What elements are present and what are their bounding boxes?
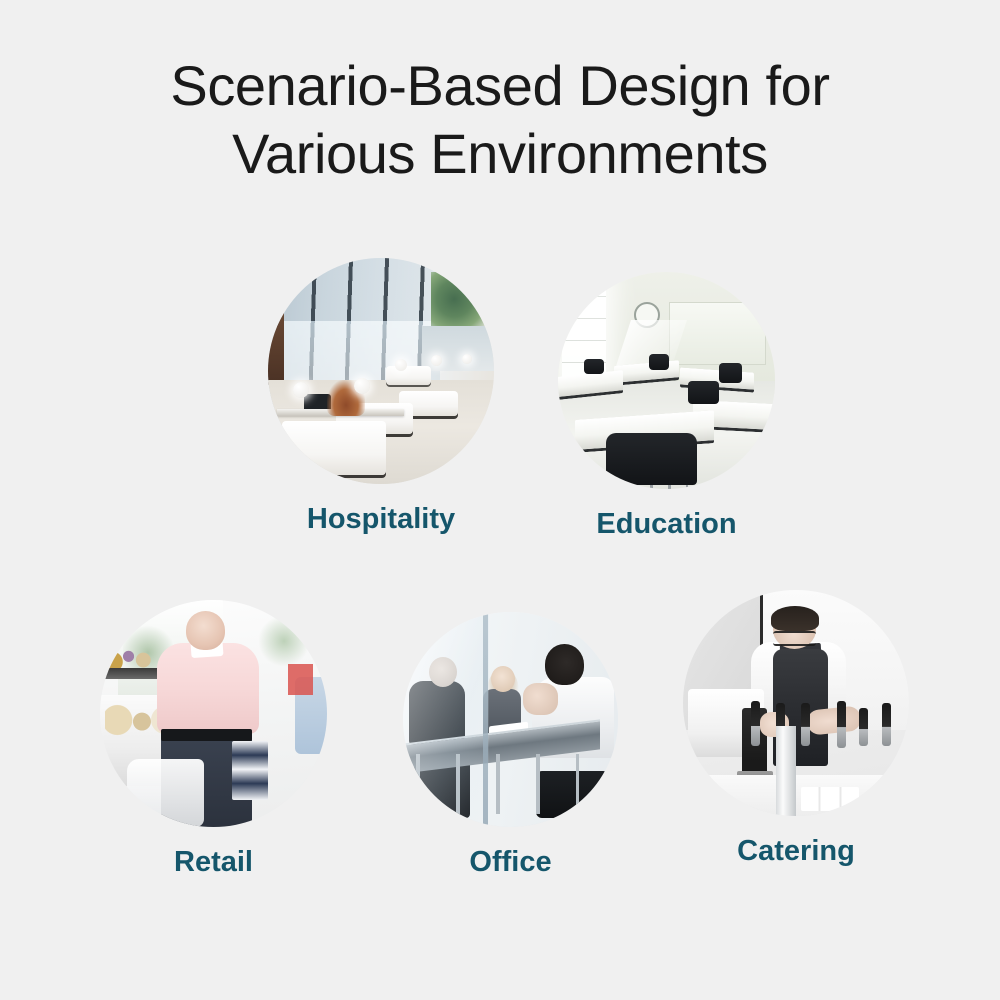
barista-arm (806, 705, 863, 735)
lobby-lamp-icon (395, 359, 407, 371)
beverage-tap-icon (801, 703, 810, 746)
barista-photo (683, 590, 909, 816)
scenario-card-office[interactable]: Office (403, 612, 618, 879)
shopper-belt (161, 729, 252, 740)
barista-hair (771, 606, 818, 631)
eyeglasses-icon (773, 631, 816, 646)
whiteboard-icon (669, 302, 766, 365)
store-greenery (259, 614, 309, 668)
retail-store-photo (100, 600, 327, 827)
colleague-right-head (545, 644, 584, 685)
scenario-image-education (558, 272, 775, 489)
classroom-chair (649, 354, 669, 369)
scenario-label-hospitality: Hospitality (268, 502, 494, 536)
page-root: Scenario-Based Design for Various Enviro… (0, 0, 1000, 1000)
paper-cups (801, 787, 860, 812)
beverage-tap-icon (751, 701, 760, 746)
glass-partition (403, 612, 489, 827)
cafe-counter (683, 775, 909, 816)
beverage-tap-icon (859, 708, 868, 746)
lobby-wood-panel (268, 308, 284, 385)
classroom-photo (558, 272, 775, 489)
lobby-foliage (431, 272, 490, 326)
scenario-grid: Hospitality (0, 0, 1000, 1000)
scenario-label-education: Education (558, 507, 775, 541)
shopper-head (186, 611, 225, 650)
shopping-bag-icon (232, 741, 268, 800)
scenario-image-retail (100, 600, 327, 827)
scenario-label-office: Office (403, 845, 618, 879)
lobby-lamp-icon (293, 382, 309, 398)
scenario-image-hospitality (268, 258, 494, 484)
scenario-card-education[interactable]: Education (558, 272, 775, 541)
scenario-card-hospitality[interactable]: Hospitality (268, 258, 494, 536)
beverage-tap-icon (882, 703, 891, 746)
lobby-sofa-far (386, 366, 431, 384)
scenario-image-catering (683, 590, 909, 816)
store-signage (288, 664, 313, 696)
classroom-chair-foreground (606, 433, 697, 485)
colleague-right-arm (523, 683, 557, 715)
shopper-basket-items (127, 759, 204, 827)
classroom-chair (719, 363, 743, 383)
lobby-sofa-foreground (282, 421, 386, 475)
classroom-chair (688, 381, 718, 405)
hotel-lobby-photo (268, 258, 494, 484)
scenario-image-office (403, 612, 618, 827)
scenario-label-catering: Catering (683, 834, 909, 868)
beverage-dispenser-column (776, 726, 796, 816)
lobby-lamp-icon (354, 378, 370, 394)
classroom-chair (584, 359, 604, 374)
office-meeting-photo (403, 612, 618, 827)
scenario-card-retail[interactable]: Retail (100, 600, 327, 879)
colleague-center-head (491, 666, 515, 692)
beverage-tap-icon (837, 701, 846, 748)
glass-mullion (483, 612, 488, 827)
scenario-label-retail: Retail (100, 845, 327, 879)
scenario-card-catering[interactable]: Catering (683, 590, 909, 868)
